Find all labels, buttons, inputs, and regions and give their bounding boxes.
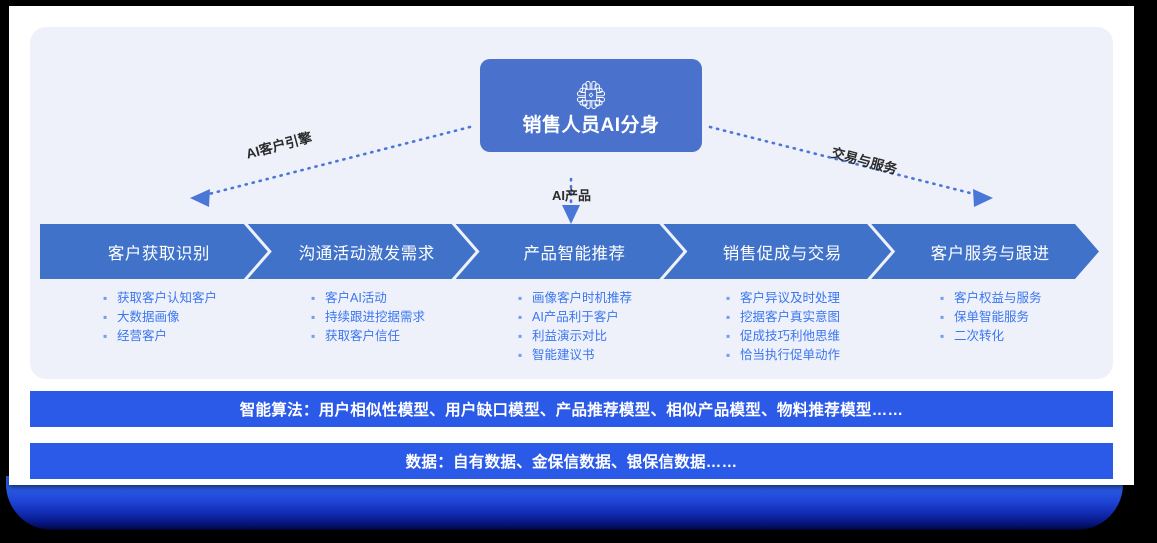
stage-chevron-label: 沟通活动激发需求	[289, 240, 435, 264]
stage-bullet-item: ▪AI产品利于客户	[518, 308, 632, 327]
stage-chevron-label: 客户获取识别	[98, 240, 210, 264]
stage-bullet-item: ▪保单智能服务	[940, 308, 1042, 327]
stage-bullet-item: ▪客户异议及时处理	[726, 289, 840, 308]
stage-bullet-text: 恰当执行促单动作	[740, 346, 840, 365]
bullet-marker-icon: ▪	[726, 289, 740, 308]
stage-bullet-item: ▪恰当执行促单动作	[726, 346, 840, 365]
stage-bullet-item: ▪智能建议书	[518, 346, 632, 365]
stage-bullet-text: 客户权益与服务	[954, 289, 1042, 308]
bullet-marker-icon: ▪	[518, 327, 532, 346]
bullet-marker-icon: ▪	[940, 327, 954, 346]
stage-bullet-list: ▪画像客户时机推荐▪AI产品利于客户▪利益演示对比▪智能建议书	[518, 289, 632, 365]
stage-bullet-text: 获取客户信任	[325, 327, 400, 346]
stage-bullet-item: ▪客户权益与服务	[940, 289, 1042, 308]
stage-bullet-text: 客户AI活动	[325, 289, 387, 308]
stage-bullet-text: 获取客户认知客户	[117, 289, 217, 308]
stage-bullet-text: AI产品利于客户	[532, 308, 619, 327]
stage-bullet-item: ▪获取客户信任	[311, 327, 425, 346]
stage-chevron[interactable]: 客户服务与跟进	[871, 224, 1099, 279]
stage-chevron[interactable]: 销售促成与交易	[663, 224, 891, 279]
stage-bullet-item: ▪经营客户	[103, 327, 217, 346]
stage-bullet-text: 智能建议书	[532, 346, 595, 365]
stage-bullet-item: ▪持续跟进挖据需求	[311, 308, 425, 327]
stage-bullet-item: ▪促成技巧利他思维	[726, 327, 840, 346]
stage-chevron[interactable]: 沟通活动激发需求	[248, 224, 476, 279]
ai-chip-icon	[571, 77, 611, 113]
stage-chevron-row: 客户获取识别沟通活动激发需求产品智能推荐销售促成与交易客户服务与跟进	[30, 224, 1113, 279]
stage-bullet-text: 客户异议及时处理	[740, 289, 840, 308]
stage-bullet-item: ▪大数据画像	[103, 308, 217, 327]
stage-chevron-label: 销售促成与交易	[713, 240, 842, 264]
stage-chevron[interactable]: 产品智能推荐	[456, 224, 684, 279]
bullet-marker-icon: ▪	[940, 289, 954, 308]
footer-bar-data: 数据：自有数据、金保信数据、银保信数据……	[30, 443, 1113, 479]
stage-bullet-list: ▪客户异议及时处理▪挖据客户真实意图▪促成技巧利他思维▪恰当执行促单动作	[726, 289, 840, 365]
bullet-marker-icon: ▪	[311, 327, 325, 346]
stage-bullet-item: ▪获取客户认知客户	[103, 289, 217, 308]
slide-root: 销售人员AI分身 AI客户引擎 交易与服务 AI产品 客户获取识别沟通活动激发需…	[0, 0, 1157, 543]
footer-bar-algorithms: 智能算法：用户相似性模型、用户缺口模型、产品推荐模型、相似产品模型、物料推荐模型…	[30, 391, 1113, 427]
footer-algorithms-text: 智能算法：用户相似性模型、用户缺口模型、产品推荐模型、相似产品模型、物料推荐模型…	[240, 398, 904, 420]
stage-bullet-list: ▪获取客户认知客户▪大数据画像▪经营客户	[103, 289, 217, 346]
bullet-marker-icon: ▪	[726, 327, 740, 346]
bullet-marker-icon: ▪	[518, 289, 532, 308]
bullet-marker-icon: ▪	[103, 308, 117, 327]
hero-ai-avatar-box[interactable]: 销售人员AI分身	[480, 59, 702, 152]
stage-bullet-item: ▪客户AI活动	[311, 289, 425, 308]
page-sheet: 销售人员AI分身 AI客户引擎 交易与服务 AI产品 客户获取识别沟通活动激发需…	[9, 6, 1134, 485]
bullet-marker-icon: ▪	[103, 327, 117, 346]
stage-bullets-row: ▪获取客户认知客户▪大数据画像▪经营客户▪客户AI活动▪持续跟进挖据需求▪获取客…	[30, 289, 1113, 373]
bullet-marker-icon: ▪	[518, 308, 532, 327]
connector-label-right: 交易与服务	[829, 141, 899, 178]
stage-bullet-list: ▪客户AI活动▪持续跟进挖据需求▪获取客户信任	[311, 289, 425, 346]
stage-bullet-text: 大数据画像	[117, 308, 180, 327]
bullet-marker-icon: ▪	[726, 346, 740, 365]
stage-bullet-text: 画像客户时机推荐	[532, 289, 632, 308]
stage-bullet-text: 保单智能服务	[954, 308, 1029, 327]
bullet-marker-icon: ▪	[518, 346, 532, 365]
stage-chevron-label: 客户服务与跟进	[921, 240, 1050, 264]
stage-bullet-text: 促成技巧利他思维	[740, 327, 840, 346]
bullet-marker-icon: ▪	[311, 308, 325, 327]
stage-bullet-item: ▪二次转化	[940, 327, 1042, 346]
bullet-marker-icon: ▪	[311, 289, 325, 308]
bullet-marker-icon: ▪	[940, 308, 954, 327]
footer-data-text: 数据：自有数据、金保信数据、银保信数据……	[406, 450, 738, 472]
connector-label-down: AI产品	[30, 185, 1113, 204]
hero-title: 销售人员AI分身	[522, 116, 659, 135]
stage-bullet-list: ▪客户权益与服务▪保单智能服务▪二次转化	[940, 289, 1042, 346]
stage-bullet-item: ▪利益演示对比	[518, 327, 632, 346]
stage-bullet-text: 利益演示对比	[532, 327, 607, 346]
stage-bullet-item: ▪挖据客户真实意图	[726, 308, 840, 327]
stage-chevron[interactable]: 客户获取识别	[40, 224, 268, 279]
stage-bullet-text: 经营客户	[117, 327, 167, 346]
bullet-marker-icon: ▪	[726, 308, 740, 327]
bullet-marker-icon: ▪	[103, 289, 117, 308]
stage-bullet-text: 二次转化	[954, 327, 1004, 346]
stage-bullet-text: 挖据客户真实意图	[740, 308, 840, 327]
flow-diagram-panel: 销售人员AI分身 AI客户引擎 交易与服务 AI产品 客户获取识别沟通活动激发需…	[30, 27, 1113, 379]
connector-label-left: AI客户引擎	[243, 126, 313, 163]
stage-bullet-item: ▪画像客户时机推荐	[518, 289, 632, 308]
stage-bullet-text: 持续跟进挖据需求	[325, 308, 425, 327]
stage-chevron-label: 产品智能推荐	[513, 240, 625, 264]
